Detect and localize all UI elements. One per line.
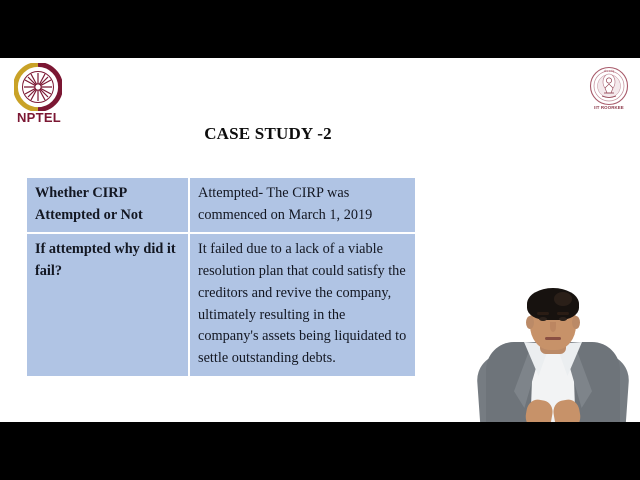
presenter-eyebrow-right xyxy=(557,312,569,315)
nptel-logo-icon xyxy=(14,63,62,111)
presenter-video-overlay xyxy=(464,280,640,422)
table-row-value: Attempted- The CIRP was commenced on Mar… xyxy=(190,178,415,234)
presenter-hair xyxy=(527,288,579,320)
slide-canvas: NPTEL योगः कर्मसु IIT ROORKEE CASE STUDY… xyxy=(0,58,640,422)
video-frame: NPTEL योगः कर्मसु IIT ROORKEE CASE STUDY… xyxy=(0,0,640,480)
nptel-logo: NPTEL xyxy=(8,63,70,129)
page-title: CASE STUDY -2 xyxy=(0,124,536,144)
svg-text:योगः कर्मसु: योगः कर्मसु xyxy=(604,69,615,73)
presenter-eyebrow-left xyxy=(537,312,549,315)
letterbox-bottom xyxy=(0,422,640,480)
presenter-hair-highlight xyxy=(554,292,572,306)
presenter-eye-right xyxy=(559,317,567,321)
presenter-ear-left xyxy=(526,316,534,329)
table-row-label: Whether CIRP Attempted or Not xyxy=(27,178,190,234)
presenter-nose xyxy=(550,322,556,332)
presenter-ear-right xyxy=(572,316,580,329)
letterbox-top xyxy=(0,0,640,58)
nptel-wordmark: NPTEL xyxy=(8,110,70,125)
iit-emblem-icon: योगः कर्मसु xyxy=(589,66,629,106)
table-row-label: If attempted why did it fail? xyxy=(27,234,190,375)
presenter-mouth xyxy=(545,337,561,340)
table-row: Whether CIRP Attempted or Not Attempted-… xyxy=(27,178,415,234)
case-study-table: Whether CIRP Attempted or Not Attempted-… xyxy=(27,178,415,376)
iit-emblem-logo: योगः कर्मसु IIT ROORKEE xyxy=(586,66,632,118)
table-row: If attempted why did it fail? It failed … xyxy=(27,234,415,375)
iit-wordmark: IIT ROORKEE xyxy=(586,105,632,110)
presenter-eye-left xyxy=(539,317,547,321)
table-row-value: It failed due to a lack of a viable reso… xyxy=(190,234,415,375)
